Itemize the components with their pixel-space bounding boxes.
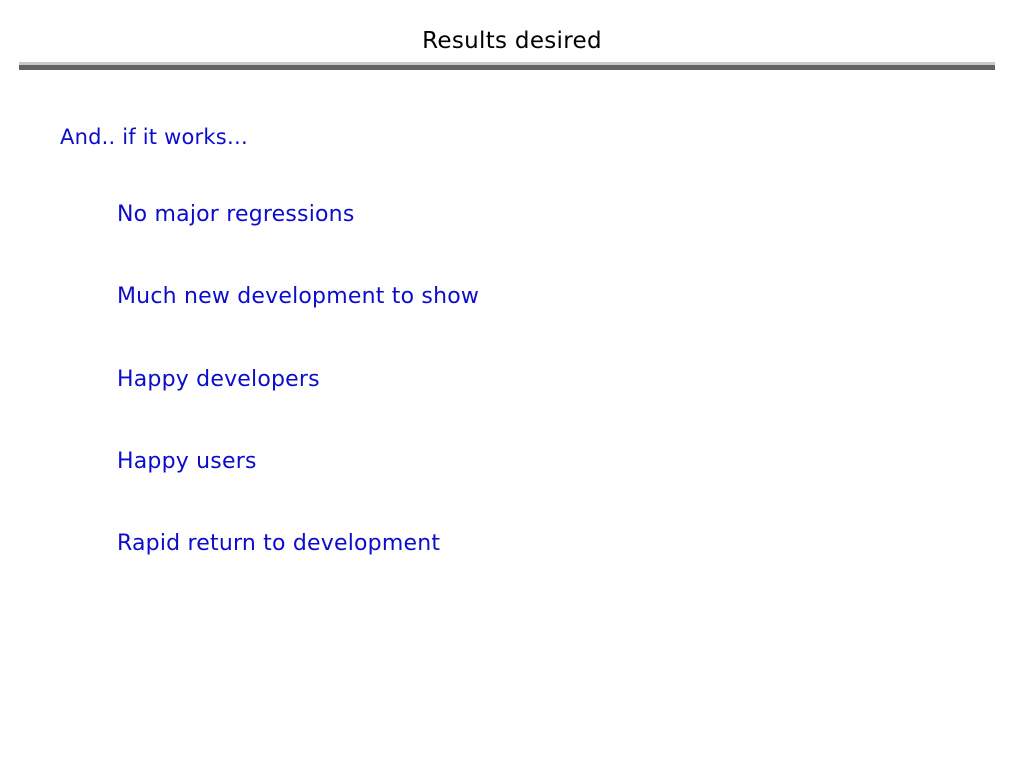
slide-title: Results desired: [0, 27, 1024, 55]
title-divider: [19, 62, 995, 70]
outcome-item-happy-users: Happy users: [117, 448, 257, 476]
lead-statement: And.. if it works…: [60, 123, 248, 151]
divider-dark-rule: [19, 65, 995, 70]
outcome-item-rapid-return-to-development: Rapid return to development: [117, 530, 440, 558]
outcome-item-no-major-regressions: No major regressions: [117, 201, 355, 229]
outcome-item-happy-developers: Happy developers: [117, 366, 320, 394]
presentation-slide: Results desired And.. if it works… No ma…: [0, 0, 1024, 768]
outcome-item-much-new-development-to-show: Much new development to show: [117, 283, 479, 311]
